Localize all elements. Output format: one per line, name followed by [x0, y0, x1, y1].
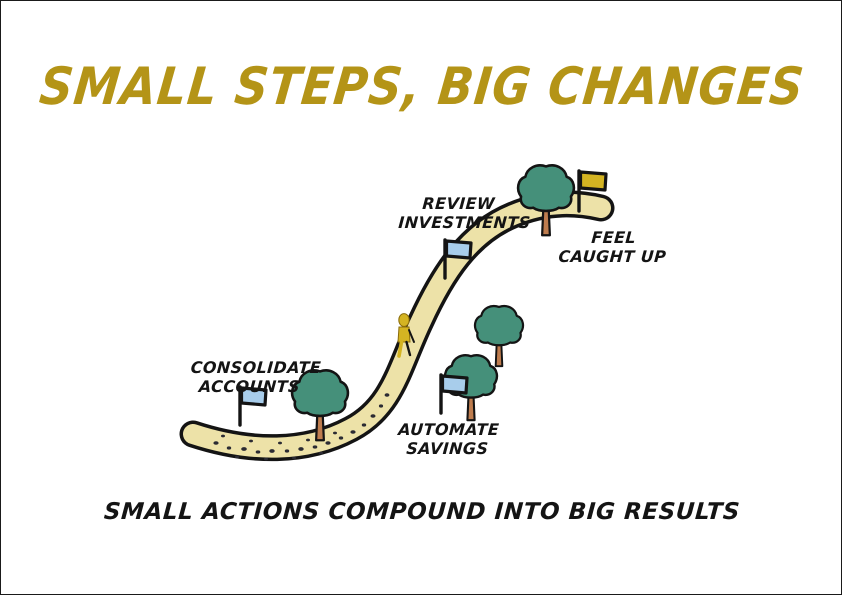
milestone-label-review: REVIEW INVESTMENTS: [398, 195, 519, 233]
poster-canvas: SMALL STEPS, BIG CHANGES: [0, 0, 842, 595]
milestone-label-feel-caught-up: FEEL CAUGHT UP: [556, 229, 671, 267]
milestone-label-consolidate: CONSOLIDATE ACCOUNTS: [189, 359, 312, 397]
poster-caption: SMALL ACTIONS COMPOUND INTO BIG RESULTS: [0, 499, 842, 525]
milestone-label-automate: AUTOMATE SAVINGS: [395, 421, 502, 459]
